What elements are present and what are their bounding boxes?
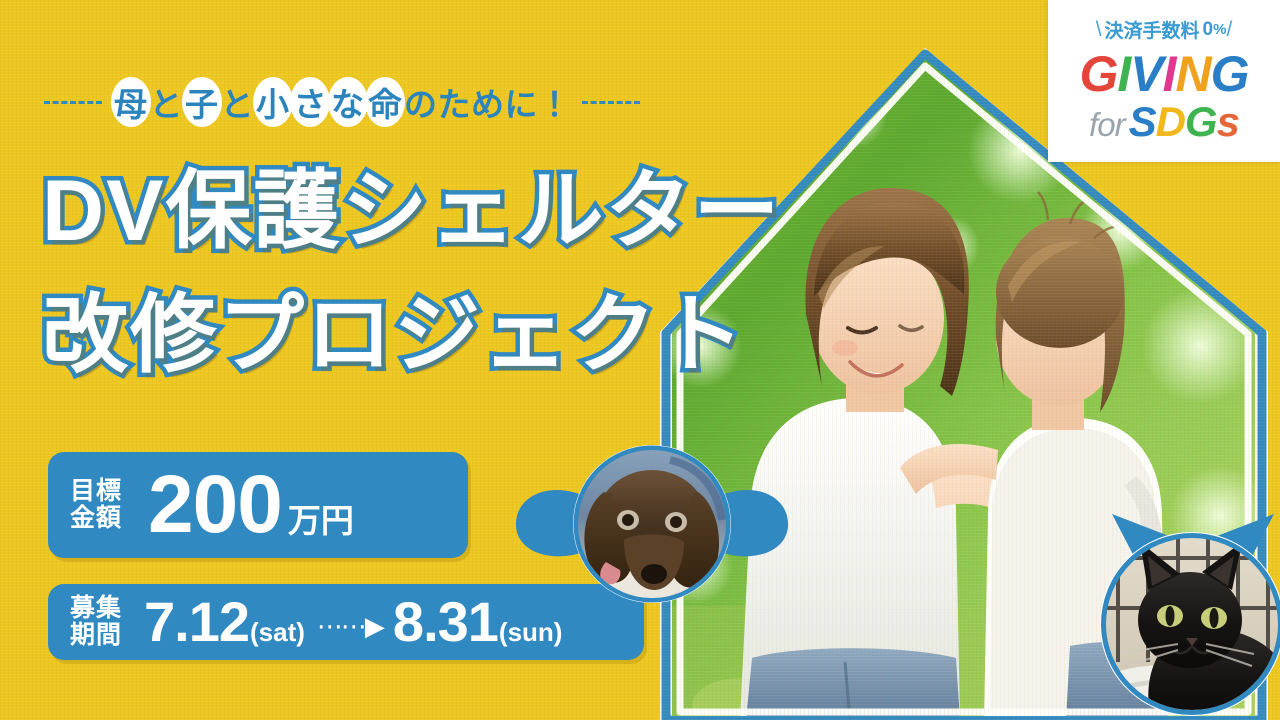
giving-for-sdgs-card: \ 決済手数料 0 % / GIVING for SDGs bbox=[1048, 0, 1280, 162]
tagline-text: 母 と 子 と 小 さ な 命 のために！ bbox=[112, 78, 572, 126]
logo-letter-d-1: D bbox=[1156, 98, 1185, 145]
goal-amount-unit: 万円 bbox=[288, 494, 354, 542]
tagline-highlight-3b: さ bbox=[292, 78, 330, 126]
fee-value: 0 bbox=[1203, 19, 1214, 41]
tagline-highlight-1: 母 bbox=[112, 78, 150, 126]
goal-amount-number: 200 bbox=[148, 464, 282, 546]
logo-letter-i-3: I bbox=[1163, 46, 1176, 102]
fee-label: 決済手数料 bbox=[1105, 16, 1200, 43]
period-end-day: (sun) bbox=[499, 617, 563, 648]
dash-left-icon bbox=[44, 101, 102, 104]
period-value: 7.12 (sat) ⋯⋯▶ 8.31 (sun) bbox=[144, 594, 562, 650]
logo-letter-g-5: G bbox=[1211, 46, 1249, 102]
tagline-between-1: と bbox=[150, 78, 184, 126]
tagline-highlight-3a: 小 bbox=[254, 78, 292, 126]
logo-letter-g-0: G bbox=[1079, 46, 1117, 102]
period-label: 募集 期間 bbox=[70, 595, 122, 649]
fee-percent-sign: % bbox=[1213, 21, 1226, 38]
dog-photo-badge bbox=[512, 436, 792, 616]
period-end-date: 8.31 bbox=[393, 594, 498, 650]
logo-letter-i-1: I bbox=[1117, 46, 1130, 102]
logo-letter-g-2: G bbox=[1185, 98, 1217, 145]
period-start-date: 7.12 bbox=[144, 594, 249, 650]
tagline-highlight-3c: な bbox=[329, 78, 367, 126]
poster-canvas: \ 決済手数料 0 % / GIVING for SDGs 母 と 子 と 小 … bbox=[0, 0, 1280, 720]
logo-letter-n-4: N bbox=[1176, 46, 1211, 102]
period-arrow-icon: ⋯⋯▶ bbox=[317, 611, 383, 642]
tagline: 母 と 子 と 小 さ な 命 のために！ bbox=[44, 78, 640, 126]
sdgs-logo-wordmark: SDGs bbox=[1129, 101, 1239, 143]
logo-letter-v-2: V bbox=[1130, 46, 1162, 102]
cat-photo-badge bbox=[1082, 512, 1280, 720]
giving-logo-wordmark: GIVING bbox=[1079, 49, 1248, 99]
logo-letter-s-3: s bbox=[1217, 98, 1239, 145]
tagline-suffix: のために！ bbox=[404, 78, 572, 126]
tagline-highlight-2: 子 bbox=[183, 78, 221, 126]
goal-label: 目標 金額 bbox=[70, 478, 122, 532]
for-word: for bbox=[1089, 108, 1125, 141]
payment-fee-note: \ 決済手数料 0 % / bbox=[1096, 16, 1233, 43]
goal-value: 200 万円 bbox=[148, 464, 354, 546]
logo-letter-s-0: S bbox=[1129, 98, 1156, 145]
tagline-highlight-3d: 命 bbox=[367, 78, 405, 126]
period-start-day: (sat) bbox=[250, 617, 305, 648]
fee-slash-left-icon: \ bbox=[1096, 18, 1102, 42]
for-sdgs-wordmark: for SDGs bbox=[1089, 101, 1239, 143]
goal-amount-box: 目標 金額 200 万円 bbox=[48, 452, 468, 558]
tagline-between-2: と bbox=[221, 78, 255, 126]
fee-slash-right-icon: / bbox=[1226, 18, 1232, 42]
